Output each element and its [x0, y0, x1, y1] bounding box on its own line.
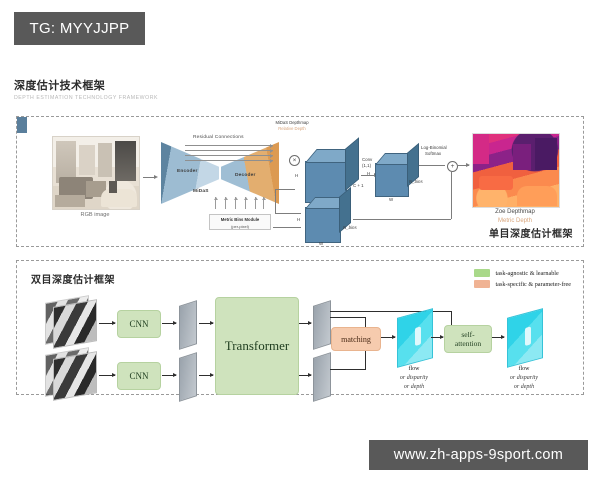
cube3-depth-label: N_bins	[343, 225, 357, 230]
stereo-input-bottom	[53, 351, 97, 401]
legend-swatch-green	[474, 269, 490, 277]
line-top-to-matching	[330, 317, 366, 318]
flow-output-2-line2: or disparity	[510, 375, 538, 381]
stereo-input-top	[53, 299, 97, 349]
line-decoder-out	[275, 189, 295, 190]
self-attention-line1: self-	[461, 330, 474, 339]
arrow-img-to-cnn-bottom	[99, 375, 115, 376]
legend-item-learnable: task-agnostic & learnable	[474, 269, 571, 277]
residual-connection-arrows	[185, 143, 273, 161]
arrow-transformer-out-bottom	[299, 375, 311, 376]
legend-label-orange: task-specific & parameter-free	[496, 281, 571, 288]
softmax-label-line1: Log-Binomial	[421, 145, 447, 150]
flow-output-1-line1: flow	[383, 365, 445, 374]
arrow-cnn-to-plate-top	[162, 323, 176, 324]
line-to-cube3	[275, 213, 301, 214]
self-attention-line2: attention	[455, 339, 481, 348]
page-subtitle: DEPTH ESTIMATION TECHNOLOGY FRAMEWORK	[14, 94, 158, 103]
arrow-plate-to-transformer-top	[199, 323, 213, 324]
feature-cube-2	[375, 153, 417, 195]
metric-depth-label: Metric Depth	[469, 218, 561, 224]
feature-plate-top-out	[313, 300, 331, 350]
cube1-depth-label: C + 1	[353, 183, 364, 188]
zoe-depthmap-label: Zoe Depthmap	[469, 209, 561, 215]
metric-bins-module: Metric Bins Module (per-pixel)	[209, 214, 271, 230]
legend-swatch-orange	[474, 280, 490, 288]
zoe-depthmap-image	[472, 133, 560, 208]
midas-depthmap-label: MiDaS Depthmap	[257, 120, 327, 126]
page-title-block: 深度估计技术框架 DEPTH ESTIMATION TECHNOLOGY FRA…	[14, 80, 158, 103]
decoder-label: Decoder	[235, 173, 256, 178]
monocular-panel-caption: 单目深度估计框架	[489, 225, 573, 240]
cnn-block-bottom: CNN	[117, 362, 161, 390]
site-watermark: www.zh-apps-9sport.com	[369, 440, 588, 470]
feature-cube-3	[305, 197, 349, 241]
feature-plate-bottom-in	[179, 352, 197, 402]
flow-plate-2	[507, 308, 543, 368]
line-bottom-to-matching	[330, 369, 366, 370]
transformer-block: Transformer	[215, 297, 299, 395]
feature-plate-bottom-out	[313, 352, 331, 402]
midas-depthmap-sublabel: Relative Depth	[257, 126, 327, 132]
telegram-watermark: TG: MYYJJPP	[14, 12, 145, 45]
stereo-framework-panel: 双目深度估计框架 task-agnostic & learnable task-…	[16, 260, 584, 395]
flow-output-2: flow or disparity or depth	[493, 365, 555, 392]
line-cube3-to-sum	[353, 219, 451, 220]
cnn-block-top: CNN	[117, 310, 161, 338]
cube2-depth-label: N_bins	[409, 179, 423, 184]
matching-block: matching	[331, 327, 381, 351]
conv-label: Conv	[362, 157, 372, 162]
rgb-input-image	[52, 136, 140, 210]
monocular-framework-panel: RGB image Encoder Decoder MiDaS Residual…	[16, 116, 584, 247]
feature-plate-top-in	[179, 300, 197, 350]
arrow-transformer-out-top	[299, 323, 311, 324]
flow-output-1-line3: or depth	[404, 384, 424, 390]
line-mbm-to-cube3	[273, 227, 301, 228]
line-cube2-to-sum	[419, 165, 445, 166]
cube3-height-label: H	[297, 217, 300, 222]
arrowhead-output	[466, 163, 470, 167]
line-decoder-down	[275, 189, 276, 213]
metric-bins-title: Metric Bins Module	[221, 217, 259, 222]
rgb-image-label: RGB image	[52, 212, 138, 218]
conv-kernel-label: (1,1)	[362, 163, 371, 168]
flow-output-1: flow or disparity or depth	[383, 365, 445, 392]
arrow-plate-to-transformer-bottom	[199, 375, 213, 376]
arrow-cnn-to-plate-bottom	[162, 375, 176, 376]
arrow-img-to-cnn-top	[99, 323, 115, 324]
self-attention-block: self- attention	[444, 325, 492, 353]
legend-label-green: task-agnostic & learnable	[496, 270, 559, 277]
flow-output-2-line3: or depth	[514, 384, 534, 390]
metric-bins-sub: (per-pixel)	[231, 224, 249, 229]
flow-output-2-line1: flow	[493, 365, 555, 374]
cube2-width-label: W	[389, 197, 393, 202]
cube2-height-label: H	[367, 171, 370, 176]
residual-connections-label: Residual Connections	[193, 135, 244, 140]
page-title: 深度估计技术框架	[14, 80, 158, 93]
stereo-panel-caption: 双目深度估计框架	[31, 271, 115, 286]
bottleneck-block	[17, 117, 27, 133]
line-sum-down	[451, 171, 452, 219]
line-skip-to-selfattention	[330, 311, 452, 312]
flow-output-1-line2: or disparity	[400, 375, 428, 381]
legend: task-agnostic & learnable task-specific …	[474, 269, 571, 291]
legend-item-parameter-free: task-specific & parameter-free	[474, 280, 571, 288]
encoder-label: Encoder	[177, 169, 198, 174]
arrow-matching-to-plate	[381, 337, 395, 338]
arrow-plate-to-selfattention	[431, 337, 443, 338]
arrowhead-input	[154, 175, 158, 179]
cube3-width-label: W	[319, 241, 323, 246]
multiply-operator-icon: ×	[289, 155, 300, 166]
metric-bins-ticks	[213, 197, 267, 213]
flow-plate-1	[397, 308, 433, 368]
sum-operator-icon: +	[447, 161, 458, 172]
cube1-height-label: H	[295, 173, 298, 178]
arrow-selfattention-to-plate	[492, 337, 504, 338]
midas-label: MiDaS	[193, 189, 209, 194]
softmax-label-line2: Softmax	[425, 151, 441, 156]
